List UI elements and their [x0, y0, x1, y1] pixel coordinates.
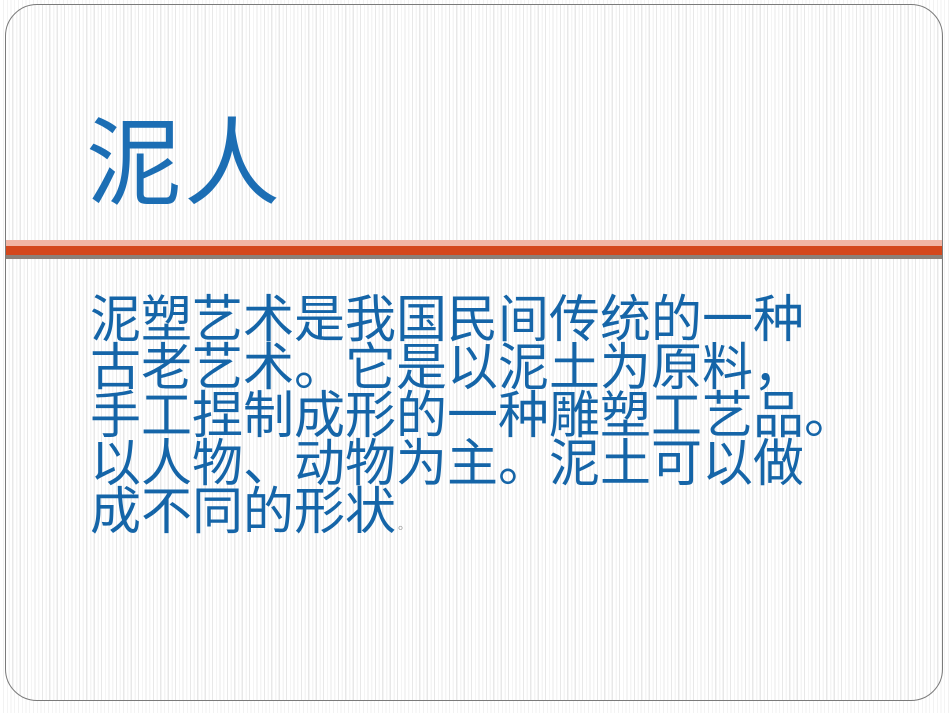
slide-canvas: 泥人 泥塑艺术是我国民间传统的一种 古老艺术。它是以泥土为原料， 手工捏制成形的… — [0, 0, 950, 713]
divider-band-middle — [6, 246, 942, 255]
body-trailing-mark: 。 — [398, 518, 411, 533]
body-line-last-text: 成不同的形状 — [90, 483, 396, 542]
body-placeholder[interactable]: 泥塑艺术是我国民间传统的一种 古老艺术。它是以泥土为原料， 手工捏制成形的一种雕… — [90, 297, 890, 550]
body-line-last: 成不同的形状。 — [90, 489, 890, 550]
body-line: 手工捏制成形的一种雕塑工艺品。 — [90, 393, 890, 441]
slide-title: 泥人 — [86, 113, 866, 217]
divider-band-bottom — [6, 255, 942, 259]
body-line: 以人物、动物为主。泥土可以做 — [90, 441, 890, 489]
body-line: 古老艺术。它是以泥土为原料， — [90, 345, 890, 393]
presentation-slide[interactable]: 泥人 泥塑艺术是我国民间传统的一种 古老艺术。它是以泥土为原料， 手工捏制成形的… — [5, 4, 943, 701]
title-divider — [6, 240, 942, 261]
body-line: 泥塑艺术是我国民间传统的一种 — [90, 297, 890, 345]
title-placeholder[interactable]: 泥人 — [86, 113, 866, 217]
